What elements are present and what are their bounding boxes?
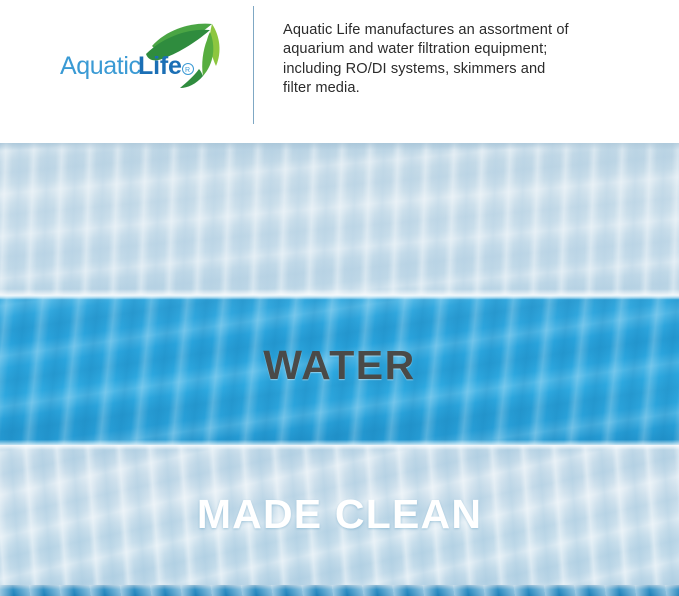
header-vertical-divider bbox=[253, 6, 254, 124]
registered-trademark-glyph: R bbox=[185, 67, 190, 74]
aquaticlife-logo: Aquatic Life R bbox=[60, 22, 240, 92]
water-band-pale-top bbox=[0, 143, 679, 295]
company-description: Aquatic Life manufactures an assortment … bbox=[283, 21, 603, 99]
logo-word-life: Life bbox=[138, 52, 182, 80]
brand-header: Aquatic Life R Aquatic Life manufactures… bbox=[0, 0, 679, 143]
hero-headline-water: WATER bbox=[0, 342, 679, 389]
logo-word-aquatic: Aquatic bbox=[60, 52, 141, 80]
product-banner-page: Aquatic Life R Aquatic Life manufactures… bbox=[0, 0, 679, 596]
aquaticlife-logo-svg: Aquatic Life R bbox=[60, 22, 240, 92]
hero-water-image: WATER MADE CLEAN EVERYDAY bbox=[0, 143, 679, 596]
hero-headline-made-clean: MADE CLEAN bbox=[0, 491, 679, 538]
